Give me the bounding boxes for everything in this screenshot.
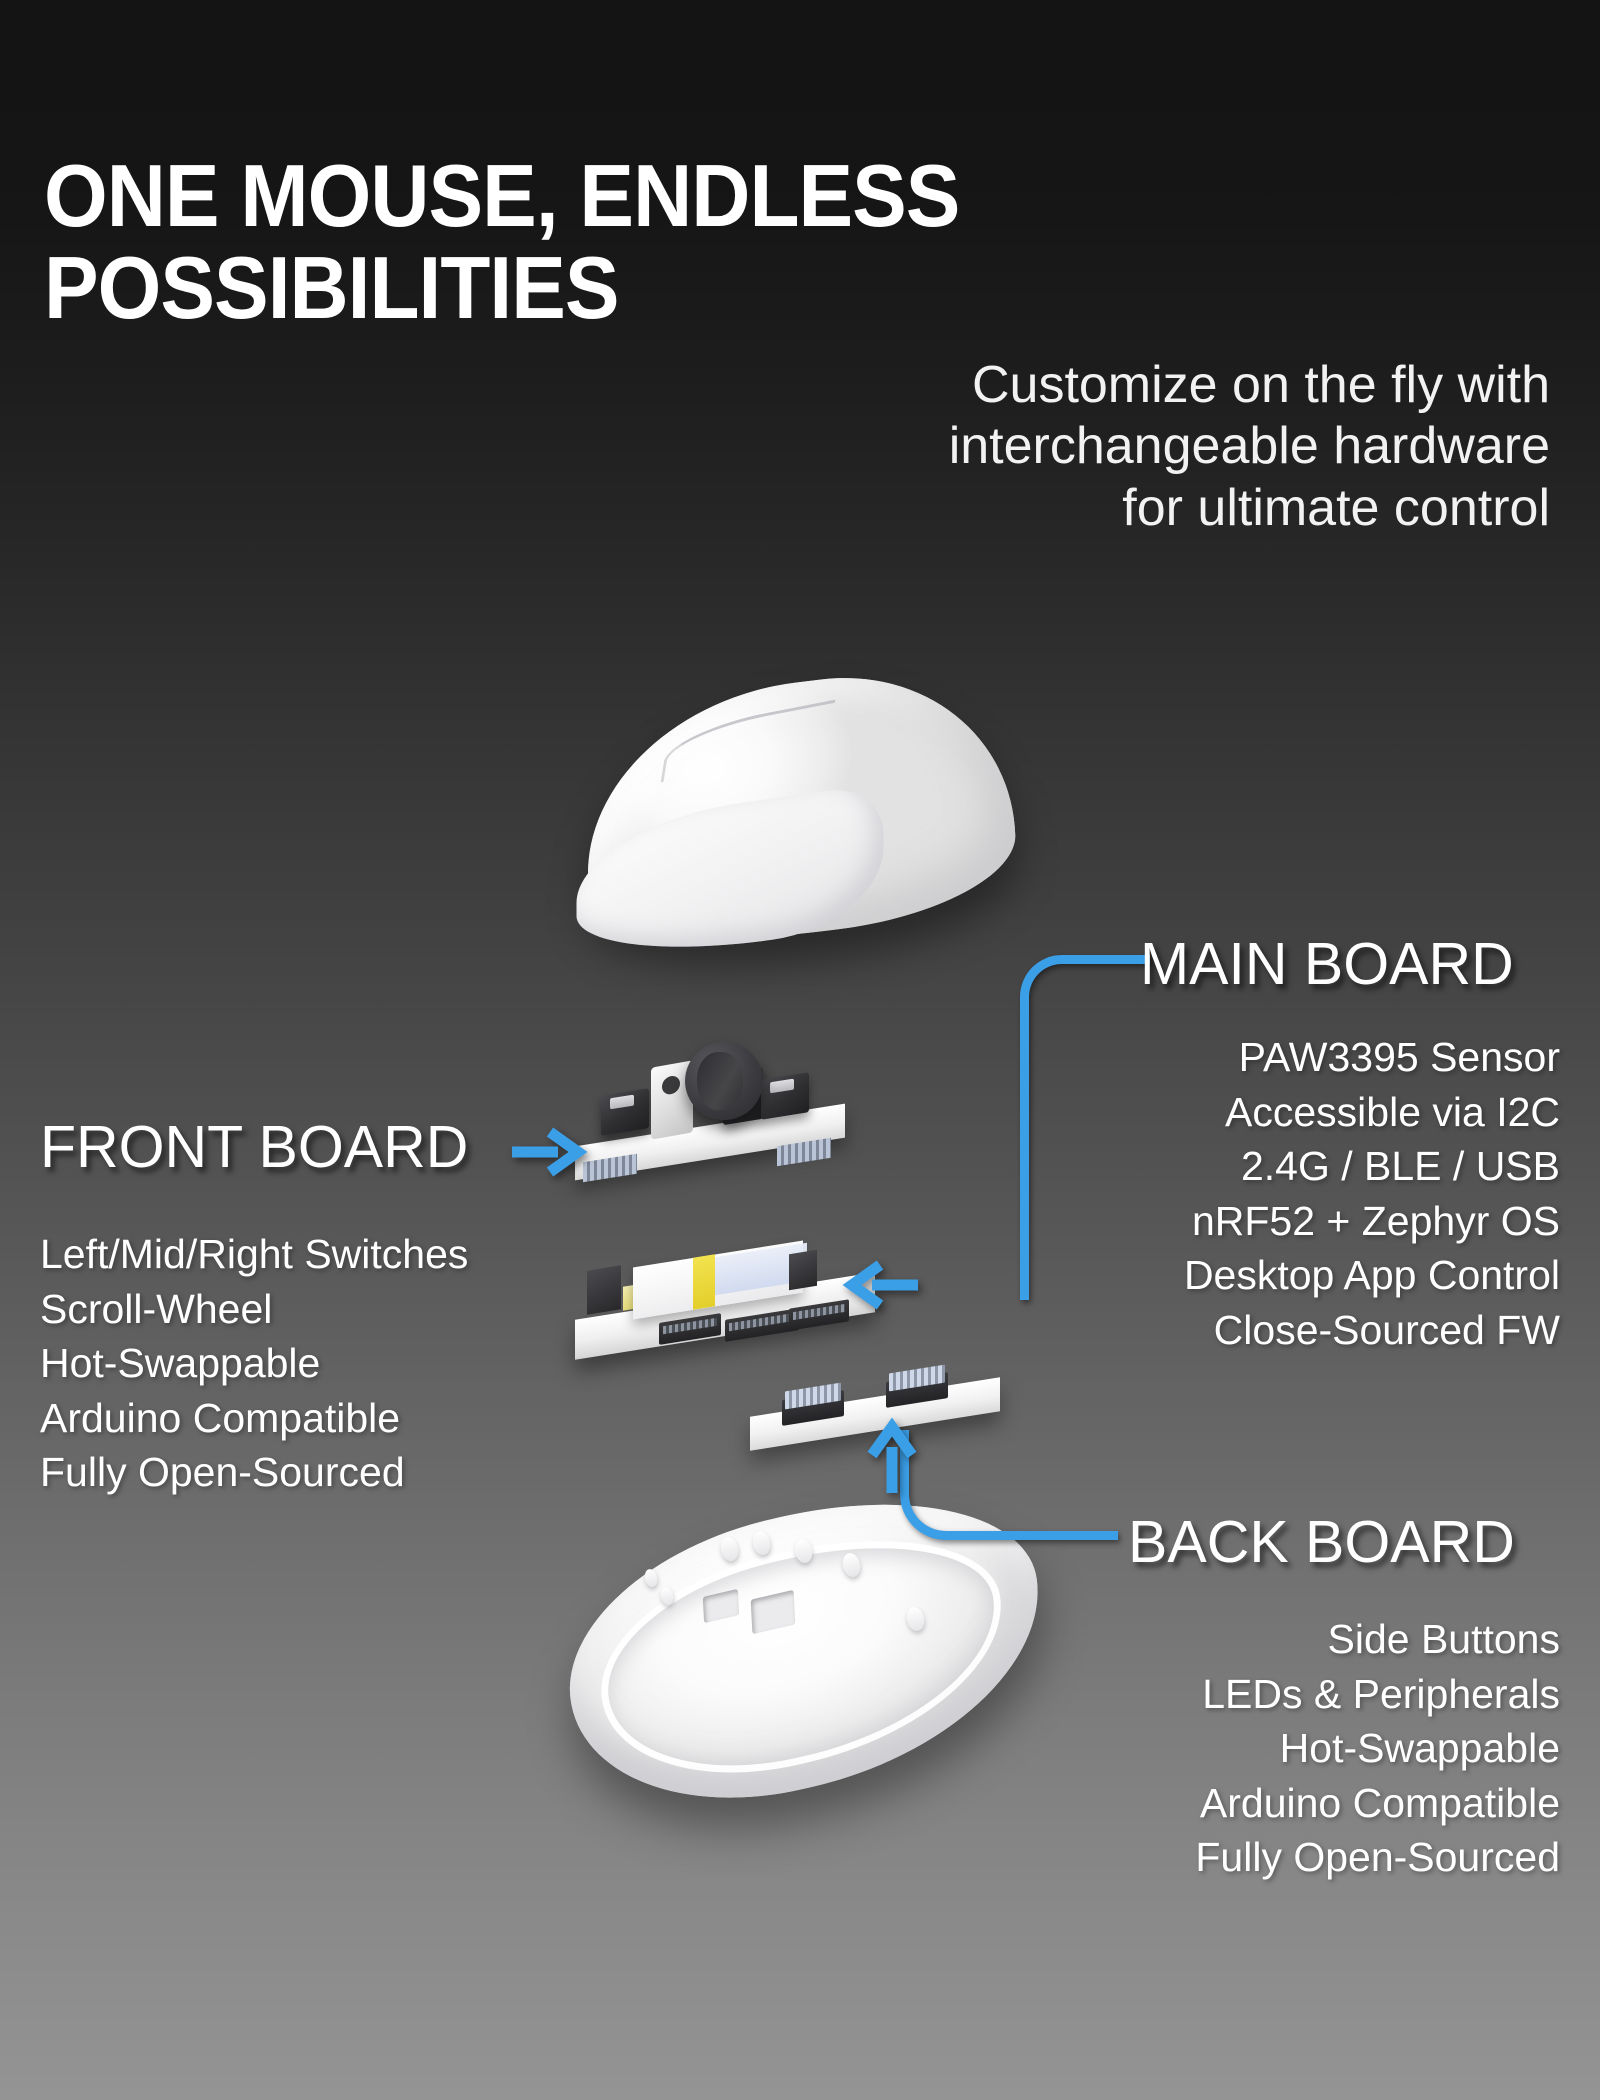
spec-item: Arduino Compatible: [40, 1391, 660, 1446]
page-title: ONE MOUSE, ENDLESS POSSIBILITIES: [44, 150, 1095, 335]
back-board-arrow-icon: [862, 1415, 922, 1495]
back-board-connector-line: [900, 1430, 1118, 1540]
mouse-top-shell-render: [545, 655, 1045, 980]
page-subtitle: Customize on the fly with interchangeabl…: [910, 355, 1550, 539]
spec-item: Arduino Compatible: [1000, 1776, 1560, 1831]
spec-item: Fully Open-Sourced: [40, 1445, 660, 1500]
front-board-render: [565, 1030, 875, 1195]
spec-item: Accessible via I2C: [1000, 1085, 1560, 1140]
spec-item: LEDs & Peripherals: [1000, 1667, 1560, 1722]
scroll-wheel-hub: [697, 1052, 743, 1110]
main-board-spec-list: PAW3395 Sensor Accessible via I2C 2.4G /…: [1000, 1030, 1560, 1357]
spec-item: 2.4G / BLE / USB: [1000, 1139, 1560, 1194]
spec-item: nRF52 + Zephyr OS: [1000, 1194, 1560, 1249]
spec-item: Scroll-Wheel: [40, 1282, 660, 1337]
spec-item: Close-Sourced FW: [1000, 1303, 1560, 1358]
left-switch: [601, 1088, 649, 1136]
back-board-heading: BACK BOARD: [1128, 1513, 1515, 1572]
front-board-arrow-icon: [510, 1122, 590, 1182]
bracket-hole: [662, 1075, 680, 1096]
main-board-arrow-icon: [840, 1255, 920, 1315]
spec-item: PAW3395 Sensor: [1000, 1030, 1560, 1085]
spec-item: Desktop App Control: [1000, 1248, 1560, 1303]
spec-item: Side Buttons: [1000, 1612, 1560, 1667]
spec-item: Hot-Swappable: [40, 1336, 660, 1391]
main-board-connector-right: [789, 1250, 817, 1290]
battery-tab: [693, 1254, 715, 1309]
spec-item: Hot-Swappable: [1000, 1721, 1560, 1776]
spec-item: Fully Open-Sourced: [1000, 1830, 1560, 1885]
back-board-spec-list: Side Buttons LEDs & Peripherals Hot-Swap…: [1000, 1612, 1560, 1885]
front-board-spec-list: Left/Mid/Right Switches Scroll-Wheel Hot…: [40, 1227, 660, 1500]
main-board-heading: MAIN BOARD: [1140, 935, 1514, 994]
poster-canvas: ONE MOUSE, ENDLESS POSSIBILITIES Customi…: [0, 0, 1600, 2100]
front-board-heading: FRONT BOARD: [40, 1118, 468, 1177]
right-switch: [761, 1072, 809, 1120]
spec-item: Left/Mid/Right Switches: [40, 1227, 660, 1282]
